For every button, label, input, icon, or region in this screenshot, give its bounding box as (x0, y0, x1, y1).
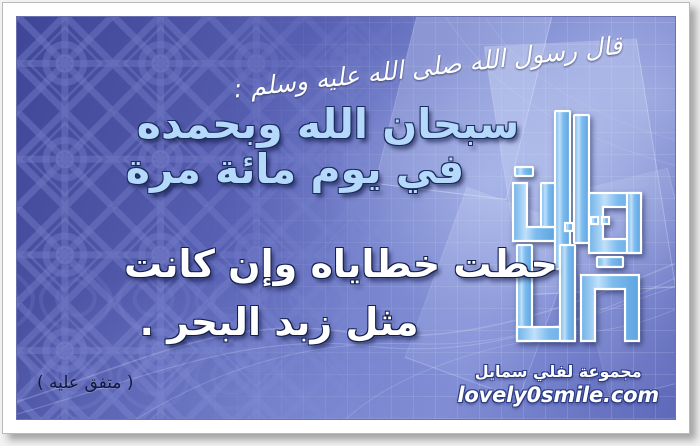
hadith-line-1: سبحان الله وبحمده (37, 103, 619, 146)
card-white-frame: قال رسول الله صلى الله عليه وسلم : (2, 2, 690, 434)
hadith-line-2: في يوم مائة مرة (37, 148, 553, 191)
brand-arabic-name: مجموعة لفلي سمايل (457, 363, 659, 381)
hadith-text-block: سبحان الله وبحمده في يوم مائة مرة حطت خط… (37, 103, 649, 342)
card-content: قال رسول الله صلى الله عليه وسلم : (17, 17, 675, 419)
hadith-line-4: مثل زبد البحر . (37, 302, 521, 342)
card-inner-canvas: قال رسول الله صلى الله عليه وسلم : (16, 16, 676, 420)
hadith-line-3: حطت خطاياه وإن كانت (37, 244, 645, 284)
brand-website-url[interactable]: lovely0smile.com (457, 383, 659, 407)
hadith-source-note: ( متفق عليه ) (37, 373, 134, 393)
hadith-card-root: قال رسول الله صلى الله عليه وسلم : (0, 0, 700, 446)
site-branding[interactable]: مجموعة لفلي سمايل lovely0smile.com (457, 363, 659, 407)
hadith-intro-calligraphy: قال رسول الله صلى الله عليه وسلم : (232, 25, 663, 105)
